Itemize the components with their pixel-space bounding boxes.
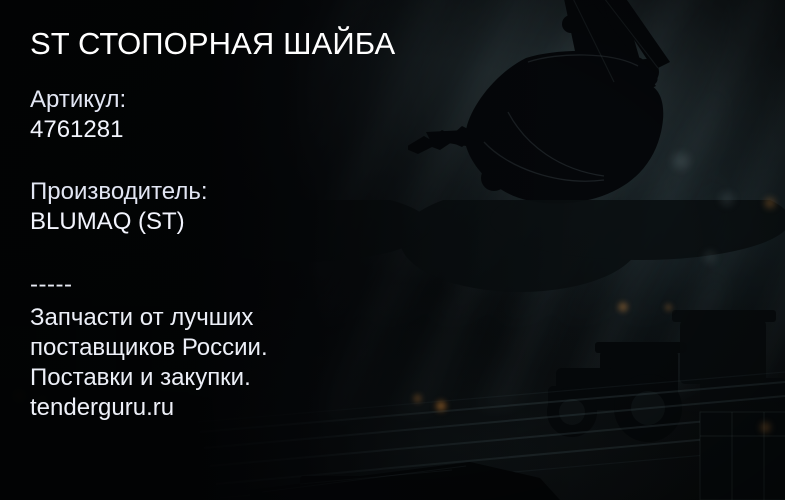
divider: ----- — [30, 272, 72, 298]
article-field: Артикул: 4761281 — [30, 85, 126, 145]
page-title: ST СТОПОРНАЯ ШАЙБА — [30, 27, 395, 61]
tagline-line: Поставки и закупки. — [30, 363, 268, 393]
tagline-block: Запчасти от лучших поставщиков России. П… — [30, 303, 268, 423]
manufacturer-field: Производитель: BLUMAQ (ST) — [30, 177, 208, 237]
tagline-line: Запчасти от лучших — [30, 303, 268, 333]
manufacturer-value: BLUMAQ (ST) — [30, 208, 185, 235]
article-label: Артикул: — [30, 86, 126, 113]
product-banner: ST СТОПОРНАЯ ШАЙБА Артикул: 4761281 Прои… — [0, 0, 785, 500]
tagline-line: поставщиков России. — [30, 333, 268, 363]
banner-content: ST СТОПОРНАЯ ШАЙБА Артикул: 4761281 Прои… — [0, 0, 785, 500]
website-url: tenderguru.ru — [30, 393, 268, 423]
article-value: 4761281 — [30, 116, 123, 143]
manufacturer-label: Производитель: — [30, 178, 208, 205]
